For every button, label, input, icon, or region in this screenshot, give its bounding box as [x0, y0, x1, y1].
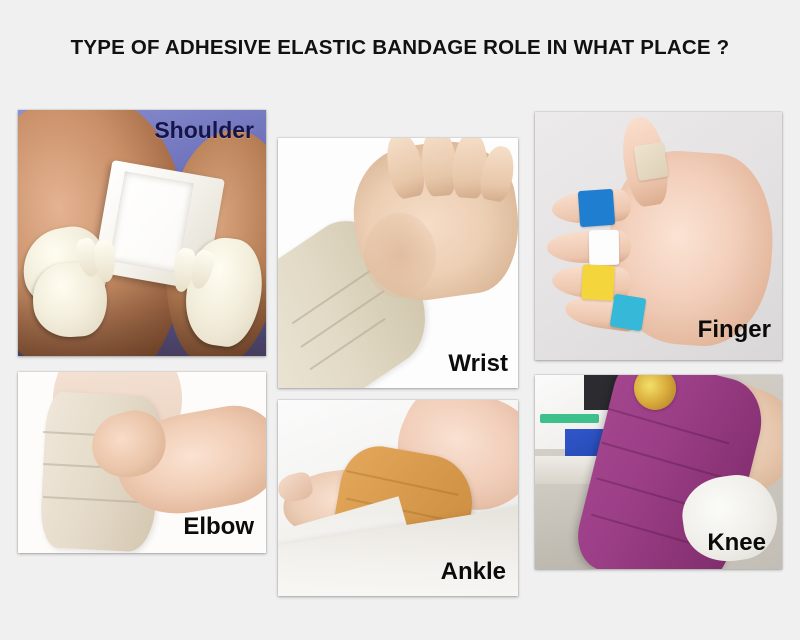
finger-bandage-cyan [609, 293, 646, 331]
wrist-thumb-web [364, 213, 436, 298]
panel-caption-elbow: Elbow [183, 515, 254, 539]
panel-caption-wrist: Wrist [448, 352, 508, 376]
panel-caption-shoulder: Shoulder [154, 119, 254, 142]
thumb-bandage-beige [634, 142, 669, 181]
panel-finger[interactable]: Finger [535, 112, 782, 360]
knee-background-green-object [540, 414, 599, 424]
shoulder-photo [18, 110, 266, 356]
panel-elbow[interactable]: Elbow [18, 372, 266, 553]
panel-knee[interactable]: Knee [535, 375, 782, 569]
finger-bandage-yellow [581, 264, 615, 300]
panel-shoulder[interactable]: Shoulder [18, 110, 266, 356]
finger-bandage-white [589, 230, 619, 265]
panel-caption-knee: Knee [707, 531, 766, 555]
panel-caption-finger: Finger [698, 318, 771, 342]
panel-wrist[interactable]: Wrist [278, 138, 518, 388]
finger-bandage-blue [578, 189, 615, 227]
panel-caption-ankle: Ankle [441, 560, 506, 584]
page-title: TYPE OF ADHESIVE ELASTIC BANDAGE ROLE IN… [0, 36, 800, 60]
panel-ankle[interactable]: Ankle [278, 400, 518, 596]
